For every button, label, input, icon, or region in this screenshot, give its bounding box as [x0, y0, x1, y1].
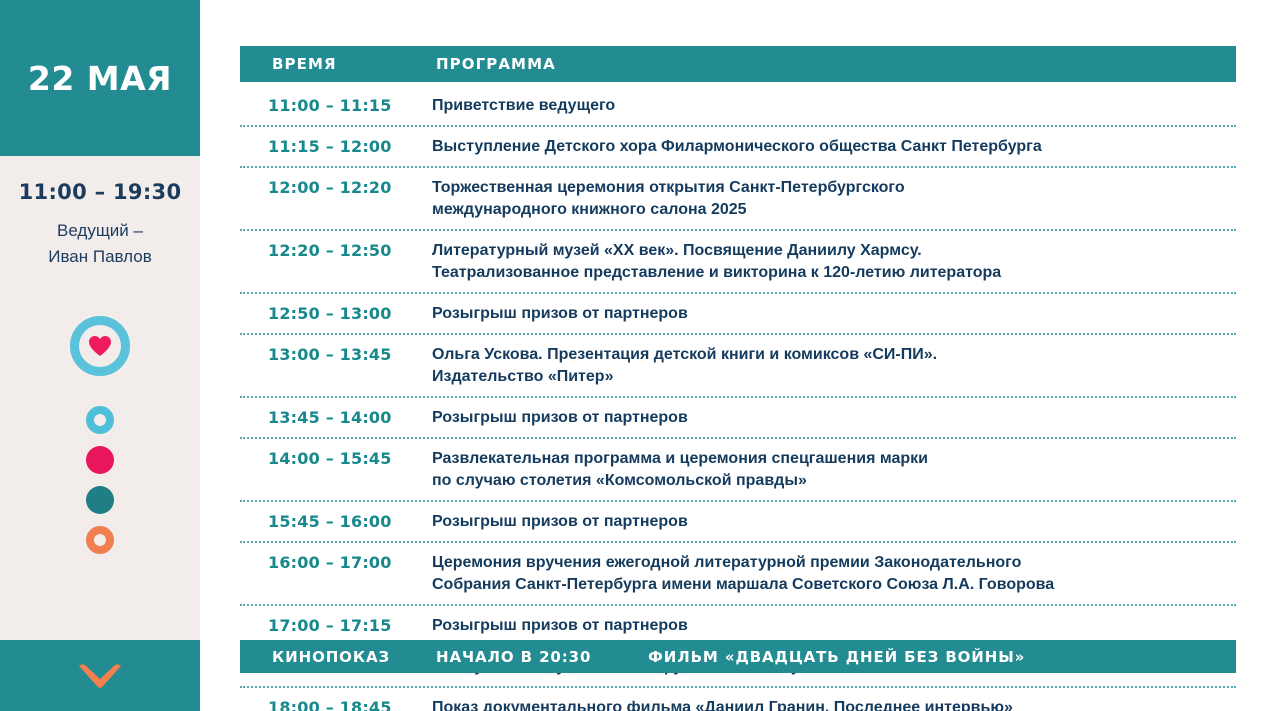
row-program-line1: Розыгрыш призов от партнеров	[432, 409, 688, 426]
table-row: 15:45 – 16:00 Розыгрыш призов от партнер…	[240, 502, 1236, 543]
row-time: 17:00 – 17:15	[240, 615, 432, 637]
sidebar-footer-banner	[0, 640, 200, 711]
heart-in-circle-icon	[70, 316, 130, 376]
row-time: 12:20 – 12:50	[240, 240, 432, 262]
row-program: Розыгрыш призов от партнеров	[432, 615, 1236, 637]
event-hours: 11:00 – 19:30	[19, 180, 182, 204]
row-program: Литературный музей «XX век». Посвящение …	[432, 240, 1236, 284]
row-program-line1: Розыгрыш призов от партнеров	[432, 513, 688, 530]
row-time: 15:45 – 16:00	[240, 511, 432, 533]
column-header-program: ПРОГРАММА	[432, 55, 556, 73]
teal-dot-icon	[86, 486, 114, 514]
row-program-line2: по случаю столетия «Комсомольской правды…	[432, 470, 1236, 492]
row-program-line2: Театрализованное представление и виктори…	[432, 262, 1236, 284]
row-program: Развлекательная программа и церемония сп…	[432, 448, 1236, 492]
sidebar-info: 11:00 – 19:30 Ведущий – Иван Павлов	[0, 156, 200, 640]
row-program-line1: Литературный музей «XX век». Посвящение …	[432, 242, 922, 259]
row-program-line1: Розыгрыш призов от партнеров	[432, 617, 688, 634]
orange-ring-dot-icon	[86, 526, 114, 554]
table-row: 13:00 – 13:45 Ольга Ускова. Презентация …	[240, 335, 1236, 398]
row-program: Ольга Ускова. Презентация детской книги …	[432, 344, 1236, 388]
row-program: Выступление Детского хора Филармоническо…	[432, 136, 1236, 158]
row-time: 11:00 – 11:15	[240, 95, 432, 117]
row-time: 14:00 – 15:45	[240, 448, 432, 470]
table-row: 12:00 – 12:20 Торжественная церемония от…	[240, 168, 1236, 231]
schedule-table: ВРЕМЯ ПРОГРАММА 11:00 – 11:15 Приветстви…	[240, 46, 1236, 711]
column-header-time: ВРЕМЯ	[240, 55, 432, 73]
cinema-label: КИНОПОКАЗ	[240, 648, 432, 666]
blue-ring-dot-icon	[86, 406, 114, 434]
row-program: Розыгрыш призов от партнеров	[432, 407, 1236, 429]
row-program: Церемония вручения ежегодной литературно…	[432, 552, 1236, 596]
row-time: 12:50 – 13:00	[240, 303, 432, 325]
row-time: 11:15 – 12:00	[240, 136, 432, 158]
table-row: 14:00 – 15:45 Развлекательная программа …	[240, 439, 1236, 502]
schedule-poster: 22 МАЯ 11:00 – 19:30 Ведущий – Иван Павл…	[0, 0, 1280, 711]
row-program-line1: Выступление Детского хора Филармоническо…	[432, 138, 1042, 155]
sidebar-date-banner: 22 МАЯ	[0, 0, 200, 156]
row-time: 13:45 – 14:00	[240, 407, 432, 429]
table-header-row: ВРЕМЯ ПРОГРАММА	[240, 46, 1236, 82]
table-body: 11:00 – 11:15 Приветствие ведущего 11:15…	[240, 82, 1236, 711]
table-row: 11:00 – 11:15 Приветствие ведущего	[240, 86, 1236, 127]
host-name: Иван Павлов	[48, 247, 152, 266]
row-program: Торжественная церемония открытия Санкт-П…	[432, 177, 1236, 221]
cinema-banner: КИНОПОКАЗ НАЧАЛО В 20:30 ФИЛЬМ «ДВАДЦАТЬ…	[240, 640, 1236, 673]
row-program: Приветствие ведущего	[432, 95, 1236, 117]
host-label: Ведущий –	[57, 221, 143, 240]
table-row: 12:20 – 12:50 Литературный музей «XX век…	[240, 231, 1236, 294]
date-title: 22 МАЯ	[28, 59, 172, 98]
chevron-down-icon[interactable]	[77, 663, 123, 689]
row-program-line1: Розыгрыш призов от партнеров	[432, 305, 688, 322]
table-row: 11:15 – 12:00 Выступление Детского хора …	[240, 127, 1236, 168]
row-program-line2: Издательство «Питер»	[432, 366, 1236, 388]
row-program-line1: Развлекательная программа и церемония сп…	[432, 450, 928, 467]
table-row: 16:00 – 17:00 Церемония вручения ежегодн…	[240, 543, 1236, 606]
table-row: 13:45 – 14:00 Розыгрыш призов от партнер…	[240, 398, 1236, 439]
row-time: 12:00 – 12:20	[240, 177, 432, 199]
row-program-line2: международного книжного салона 2025	[432, 199, 1236, 221]
cinema-film-title: ФИЛЬМ «ДВАДЦАТЬ ДНЕЙ БЕЗ ВОЙНЫ»	[648, 648, 1236, 666]
row-program-line1: Ольга Ускова. Презентация детской книги …	[432, 346, 937, 363]
row-time: 16:00 – 17:00	[240, 552, 432, 574]
row-time: 18:00 – 18:45	[240, 697, 432, 711]
row-program-line1: Приветствие ведущего	[432, 97, 615, 114]
heart-icon	[88, 335, 112, 357]
host-info: Ведущий – Иван Павлов	[48, 218, 152, 270]
row-program: Розыгрыш призов от партнеров	[432, 303, 1236, 325]
sidebar: 22 МАЯ 11:00 – 19:30 Ведущий – Иван Павл…	[0, 0, 200, 711]
row-time: 13:00 – 13:45	[240, 344, 432, 366]
decorative-dots	[86, 406, 114, 554]
row-program-line2: Собрания Санкт-Петербурга имени маршала …	[432, 574, 1236, 596]
row-program: Розыгрыш призов от партнеров	[432, 511, 1236, 533]
cinema-start-time: НАЧАЛО В 20:30	[432, 648, 648, 666]
row-program: Показ документального фильма «Даниил Гра…	[432, 697, 1236, 711]
table-row: 12:50 – 13:00 Розыгрыш призов от партнер…	[240, 294, 1236, 335]
row-program-line1: Показ документального фильма «Даниил Гра…	[432, 699, 1013, 711]
table-row: 18:00 – 18:45 Показ документального филь…	[240, 688, 1236, 711]
row-program-line1: Церемония вручения ежегодной литературно…	[432, 554, 1021, 571]
pink-dot-icon	[86, 446, 114, 474]
row-program-line1: Торжественная церемония открытия Санкт-П…	[432, 179, 905, 196]
